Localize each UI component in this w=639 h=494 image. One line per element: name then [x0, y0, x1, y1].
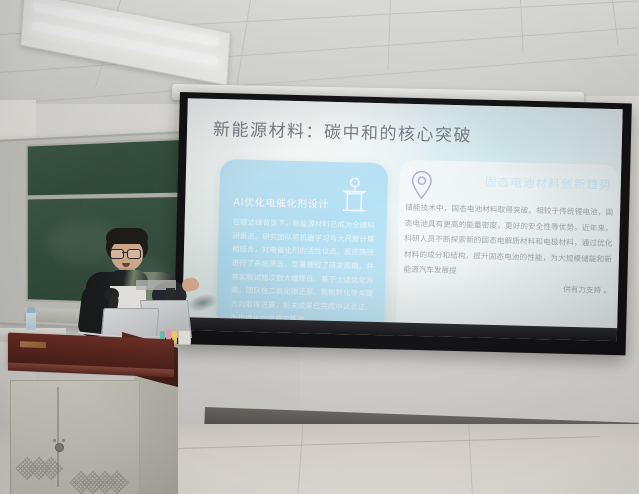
glasses-right-lens	[127, 249, 141, 259]
vent-left	[19, 459, 59, 479]
projection-screen: 新能源材料：碳中和的核心突破 AI优化电催化剂设计 在碳达峰背景下，新能源材料已…	[174, 92, 632, 355]
slide-title: 新能源材料：碳中和的核心突破	[213, 115, 473, 147]
glasses-left-lens	[110, 249, 124, 259]
card-heading: AI优化电催化剂设计	[233, 193, 335, 211]
slide-right-panel: 固态电池材料创新趋势 储能技术中，固态电池材料取得突破。相较于传统锂电池，固态电…	[396, 160, 619, 329]
panel-heading: 固态电池材料创新趋势	[456, 173, 612, 193]
lectern	[4, 336, 179, 494]
chalkboard-upper-panel	[26, 138, 185, 198]
cabinet-knob-right[interactable]	[62, 439, 65, 442]
paper-cup[interactable]	[178, 330, 191, 345]
lectern-cabinet[interactable]	[10, 380, 140, 494]
presenter-fringe	[106, 228, 148, 244]
panel-body-text: 储能技术中，固态电池材料取得突破。相较于传统锂电池，固态电池具有更高的能量密度，…	[403, 200, 613, 299]
panel-body-last-line: 供有力支持 。	[403, 278, 611, 299]
location-pin-icon	[409, 170, 434, 201]
presenter-right-hand	[181, 276, 200, 292]
presentation-slide: 新能源材料：碳中和的核心突破 AI优化电催化剂设计 在碳达峰背景下，新能源材料已…	[182, 98, 622, 328]
cabinet-knob-left[interactable]	[53, 439, 56, 442]
panel-body-main: 储能技术中，固态电池材料取得突破。相较于传统锂电池，固态电池具有更高的能量密度，…	[403, 203, 613, 276]
lectern-logo	[20, 341, 46, 348]
vent-right	[73, 473, 123, 493]
lectern-side-panel	[134, 376, 178, 494]
water-bottle	[26, 312, 36, 330]
screen-surface: 新能源材料：碳中和的核心突破 AI优化电催化剂设计 在碳达峰背景下，新能源材料已…	[182, 98, 623, 341]
slide-blue-card: AI优化电催化剂设计 在碳达峰背景下，新能源材料已成为全球科研重点。研究团队将机…	[216, 159, 389, 328]
classroom-photo-scene: 新能源材料：碳中和的核心突破 AI优化电催化剂设计 在碳达峰背景下，新能源材料已…	[0, 0, 639, 494]
card-body-text: 在碳达峰背景下，新能源材料已成为全球科研重点。研究团队将机器学习与大尺度计算相结…	[230, 215, 375, 328]
bottle-cap	[27, 307, 35, 313]
glasses-bridge	[122, 252, 127, 253]
cabinet-lock[interactable]	[55, 443, 64, 452]
lectern-podium-icon	[337, 176, 372, 217]
